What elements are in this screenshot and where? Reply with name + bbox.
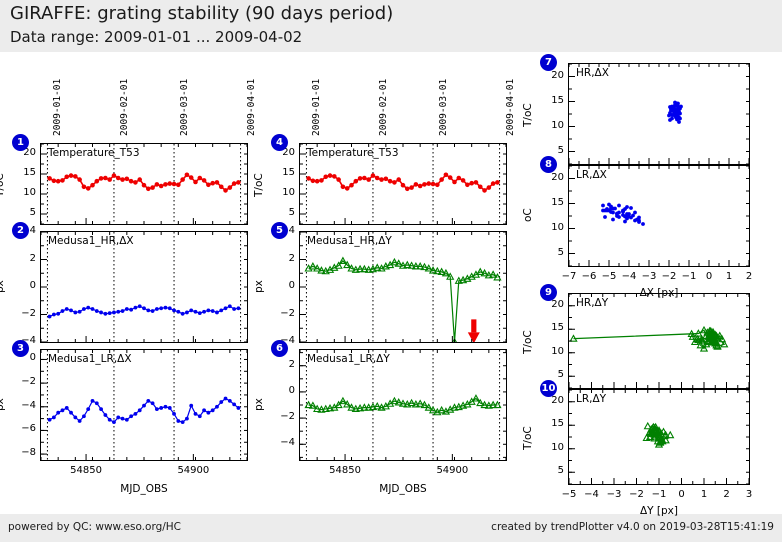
ytick-label-p5: 2 — [265, 253, 295, 264]
xtick-label-p3: 54850 — [60, 465, 112, 476]
date-tick-label: 2009-01-01 — [52, 79, 63, 136]
ytick-label-p4: 15 — [265, 167, 295, 178]
plot-title-8: LR,ΔX — [576, 169, 607, 181]
ytick-label-p6: 2 — [265, 359, 295, 370]
yaxis-label-p5: px — [253, 281, 265, 294]
yaxis-label-p3: px — [0, 399, 6, 412]
ytick-label-p7: 20 — [534, 70, 564, 81]
ytick-label-p4: 5 — [265, 207, 295, 218]
yaxis-label-p10: T/oC — [522, 426, 534, 450]
yaxis-label-p4: T/oC — [253, 173, 265, 197]
panel-badge-9: 9 — [540, 284, 557, 301]
outlier-arrow-marker — [468, 319, 480, 342]
yaxis-label-p2: px — [0, 281, 6, 294]
ytick-label-p10: 10 — [534, 442, 564, 453]
ytick-label-p4: 10 — [265, 187, 295, 198]
yaxis-label-p1: T/oC — [0, 173, 6, 197]
plot-title-3: Medusa1_LR,ΔX — [48, 353, 132, 365]
ytick-label-p1: 5 — [6, 207, 36, 218]
plot-title-2: Medusa1_HR,ΔX — [48, 235, 134, 247]
plot-frame-3 — [40, 349, 248, 461]
panel-badge-4: 4 — [271, 134, 288, 151]
date-tick-label: 2009-03-01 — [438, 79, 449, 136]
ytick-label-p8: 20 — [534, 172, 564, 183]
ytick-label-p5: 0 — [265, 280, 295, 291]
xaxis-label-p3: MJD_OBS — [40, 483, 248, 495]
plot-title-6: Medusa1_LR,ΔY — [307, 353, 390, 365]
panel-badge-3: 3 — [12, 340, 29, 357]
footer-credit-right: created by trendPlotter v4.0 on 2019-03-… — [491, 521, 774, 533]
yaxis-label-p8: oC — [522, 209, 534, 223]
plot-title-1: Temperature_T53 — [48, 147, 140, 159]
footer-credit-left: powered by QC: www.eso.org/HC — [8, 521, 181, 533]
yaxis-label-p6: px — [253, 399, 265, 412]
panel-badge-2: 2 — [12, 222, 29, 239]
panel-badge-6: 6 — [271, 340, 288, 357]
ytick-label-p3: −6 — [6, 423, 36, 434]
date-tick-label: 2009-01-01 — [311, 79, 322, 136]
plot-frame-5 — [299, 231, 507, 343]
plot-title-10: LR,ΔY — [576, 393, 606, 405]
xtick-label-p10: 3 — [736, 489, 762, 500]
panel-badge-8: 8 — [540, 156, 557, 173]
plot-title-4: Temperature_T53 — [307, 147, 399, 159]
xtick-label-p6: 54850 — [319, 465, 371, 476]
xaxis-label-p10: ΔY [px] — [568, 505, 750, 517]
date-tick-label: 2009-02-01 — [378, 79, 389, 136]
ytick-label-p7: 15 — [534, 95, 564, 106]
ytick-label-p8: 10 — [534, 222, 564, 233]
plot-frame-2 — [40, 231, 248, 343]
panel-badge-7: 7 — [540, 54, 557, 71]
ytick-label-p2: −2 — [6, 308, 36, 319]
ytick-label-p6: −2 — [265, 411, 295, 422]
ytick-label-p10: 5 — [534, 465, 564, 476]
panel-badge-5: 5 — [271, 222, 288, 239]
ytick-label-p5: −2 — [265, 308, 295, 319]
plot-title-9: HR,ΔY — [576, 297, 608, 309]
ytick-label-p10: 15 — [534, 418, 564, 429]
date-tick-label: 2009-04-01 — [246, 79, 257, 136]
ytick-label-p3: −4 — [6, 400, 36, 411]
ytick-label-p3: −2 — [6, 376, 36, 387]
ytick-label-p8: 5 — [534, 247, 564, 258]
ytick-label-p1: 10 — [6, 187, 36, 198]
ytick-label-p7: 5 — [534, 145, 564, 156]
date-tick-label: 2009-02-01 — [119, 79, 130, 136]
plot-title-5: Medusa1_HR,ΔY — [307, 235, 392, 247]
xtick-label-p3: 54900 — [167, 465, 219, 476]
ytick-label-p9: 10 — [534, 346, 564, 357]
ytick-label-p9: 5 — [534, 369, 564, 380]
yaxis-label-p7: T/oC — [522, 103, 534, 127]
plot-frame-6 — [299, 349, 507, 461]
ytick-label-p2: 2 — [6, 253, 36, 264]
plot-page: GIRAFFE: grating stability (90 days peri… — [0, 0, 782, 542]
ytick-label-p7: 10 — [534, 120, 564, 131]
xtick-label-p6: 54900 — [426, 465, 478, 476]
ytick-label-p6: −4 — [265, 437, 295, 448]
ytick-label-p9: 15 — [534, 322, 564, 333]
xaxis-label-p6: MJD_OBS — [299, 483, 507, 495]
xtick-label-p8: 2 — [736, 271, 762, 282]
ytick-label-p3: −8 — [6, 447, 36, 458]
panel-badge-10: 10 — [540, 380, 557, 397]
ytick-label-p6: 0 — [265, 385, 295, 396]
yaxis-label-p9: T/oC — [522, 330, 534, 354]
date-tick-label: 2009-03-01 — [179, 79, 190, 136]
page-title: GIRAFFE: grating stability (90 days peri… — [10, 3, 393, 24]
data-range-subtitle: Data range: 2009-01-01 ... 2009-04-02 — [10, 28, 302, 46]
panel-badge-1: 1 — [12, 134, 29, 151]
plot-title-7: HR,ΔX — [576, 67, 609, 79]
ytick-label-p8: 15 — [534, 197, 564, 208]
ytick-label-p2: 0 — [6, 280, 36, 291]
date-tick-label: 2009-04-01 — [505, 79, 516, 136]
ytick-label-p1: 15 — [6, 167, 36, 178]
